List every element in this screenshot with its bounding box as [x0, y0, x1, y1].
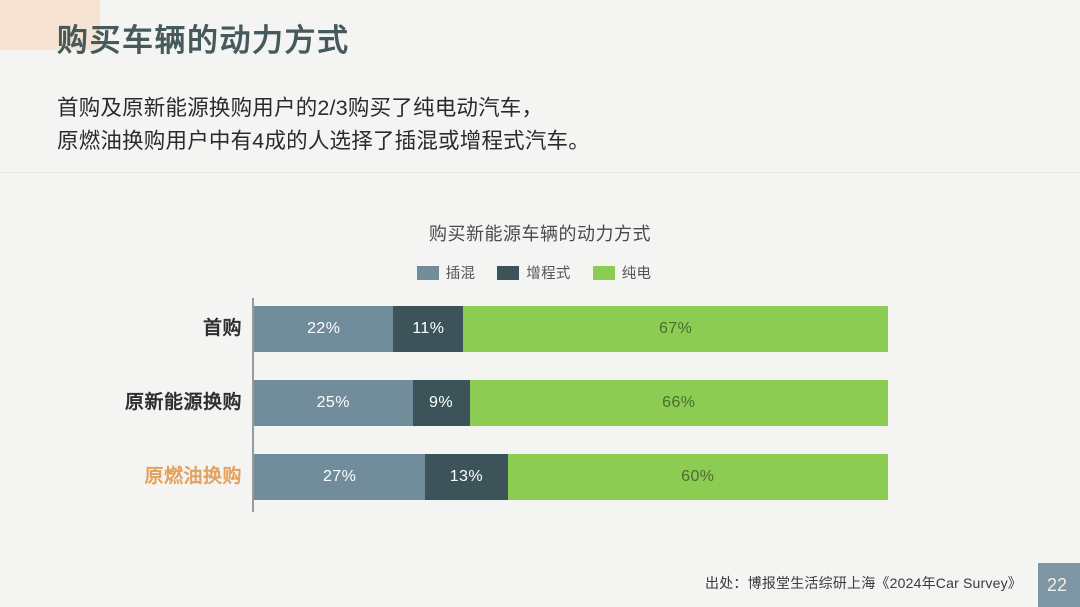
chart-row: 原新能源换购25%9%66%: [0, 380, 1080, 426]
bar-segment-纯电: 60%: [508, 454, 888, 500]
bar-segment-纯电: 66%: [470, 380, 888, 426]
chart-legend: 插混 增程式 纯电: [0, 262, 1080, 283]
row-label-1: 原新能源换购: [22, 380, 242, 426]
row-label-2: 原燃油换购: [22, 454, 242, 500]
source-note: 出处：博报堂生活综研上海《2024年Car Survey》: [705, 573, 1022, 593]
legend-item-phev: 插混: [417, 262, 476, 283]
chart-row: 原燃油换购27%13%60%: [0, 454, 1080, 500]
slide-subtitle: 首购及原新能源换购用户的2/3购买了纯电动汽车， 原燃油换购用户中有4成的人选择…: [57, 92, 590, 158]
bar-segment-插混: 25%: [254, 380, 413, 426]
stacked-bar: 25%9%66%: [254, 380, 888, 426]
slide-canvas: 购买车辆的动力方式 首购及原新能源换购用户的2/3购买了纯电动汽车， 原燃油换购…: [0, 0, 1080, 607]
legend-item-bev: 纯电: [593, 262, 652, 283]
chart-row: 首购22%11%67%: [0, 306, 1080, 352]
chart-container: 购买新能源车辆的动力方式 插混 增程式 纯电 首购22%11%67%原新能源换购…: [0, 200, 1080, 530]
stacked-bar: 22%11%67%: [254, 306, 888, 352]
legend-label-bev: 纯电: [622, 262, 652, 283]
legend-label-extended-range: 增程式: [526, 262, 570, 283]
bar-segment-增程式: 11%: [393, 306, 463, 352]
page-title: 购买车辆的动力方式: [57, 21, 350, 61]
bar-segment-增程式: 13%: [425, 454, 507, 500]
legend-swatch-bev: [593, 266, 615, 280]
page-number-badge: 22: [1038, 563, 1080, 607]
chart-title: 购买新能源车辆的动力方式: [0, 220, 1080, 246]
row-label-0: 首购: [22, 306, 242, 352]
subtitle-line-1: 首购及原新能源换购用户的2/3购买了纯电动汽车，: [57, 92, 590, 125]
subtitle-line-2: 原燃油换购用户中有4成的人选择了插混或增程式汽车。: [57, 125, 590, 158]
bar-segment-插混: 27%: [254, 454, 425, 500]
bar-segment-插混: 22%: [254, 306, 393, 352]
stacked-bar: 27%13%60%: [254, 454, 888, 500]
chart-plot-area: 首购22%11%67%原新能源换购25%9%66%原燃油换购27%13%60%: [0, 298, 1080, 528]
legend-swatch-phev: [417, 266, 439, 280]
bar-segment-增程式: 9%: [413, 380, 470, 426]
legend-label-phev: 插混: [446, 262, 476, 283]
header-divider: [0, 172, 1080, 173]
legend-swatch-extended-range: [497, 266, 519, 280]
legend-item-extended-range: 增程式: [497, 262, 570, 283]
bar-segment-纯电: 67%: [463, 306, 888, 352]
